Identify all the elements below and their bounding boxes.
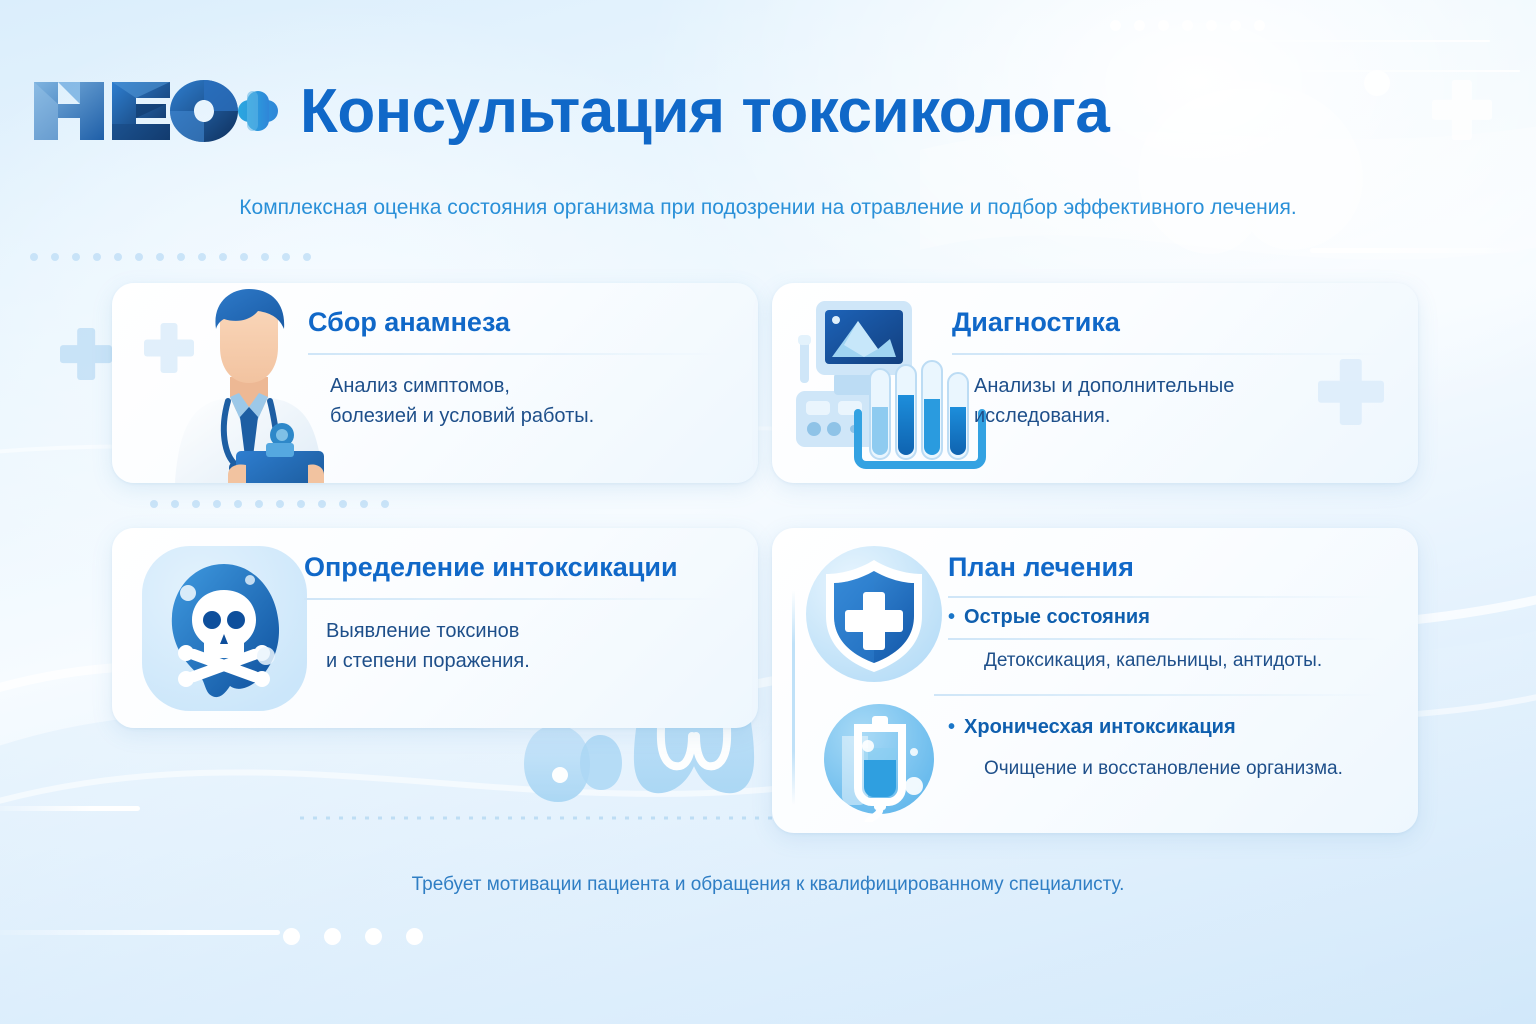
plan-item-detail-chronic: Очищение и восстановление организма. bbox=[984, 758, 1343, 780]
medical-cross-icon bbox=[1432, 80, 1492, 140]
decor-circle bbox=[1364, 70, 1390, 96]
infographic-canvas: Консультация токсиколога Комплексная оце… bbox=[0, 0, 1536, 1024]
bullet-icon: • bbox=[948, 606, 955, 628]
decor-dot-row-bottom bbox=[283, 928, 423, 945]
card-title-anamnesis: Сбор анамнеза bbox=[308, 307, 510, 338]
card-treatment-plan[interactable]: План лечения •Острые состояния Детоксика… bbox=[772, 528, 1418, 833]
plan-item-heading-chronic: •Хроничесхая интоксикация bbox=[948, 716, 1236, 739]
card-intoxication[interactable]: Определение интоксикации Выявление токси… bbox=[112, 528, 758, 728]
medical-cross-icon bbox=[60, 328, 112, 380]
card-body-line: болезией и условий работы. bbox=[330, 401, 594, 431]
card-divider bbox=[948, 596, 1382, 598]
iv-drip-icon bbox=[824, 704, 934, 822]
card-body-intoxication: Выявление токсинов и степени поражения. bbox=[326, 616, 530, 677]
plan-item-detail-acute: Детоксикация, капельницы, антидоты. bbox=[984, 650, 1322, 672]
decor-dot-row-top bbox=[1110, 20, 1265, 31]
page-title: Консультация токсиколога bbox=[300, 76, 1109, 147]
decor-line-4 bbox=[1230, 70, 1520, 72]
kidney-icon bbox=[524, 725, 622, 802]
card-divider bbox=[304, 598, 722, 600]
decor-line-2 bbox=[0, 930, 280, 935]
card-body-line: Выявление токсинов bbox=[326, 616, 530, 646]
plan-item-heading-text: Острые состояния bbox=[964, 606, 1150, 628]
card-body-line: Анализы и дополнительные bbox=[974, 371, 1234, 401]
plan-section-divider bbox=[934, 694, 1386, 696]
decor-line-1 bbox=[0, 806, 140, 811]
card-body-line: исследования. bbox=[974, 401, 1234, 431]
plan-item-divider bbox=[948, 638, 1382, 640]
card-body-anamnesis: Анализ симптомов, болезией и условий раб… bbox=[330, 371, 594, 432]
card-title-diagnostics: Диагностика bbox=[952, 307, 1120, 338]
card-divider bbox=[308, 353, 722, 355]
plan-item-heading-acute: •Острые состояния bbox=[948, 606, 1150, 629]
liver-icon bbox=[1142, 85, 1359, 250]
shield-cross-icon bbox=[806, 546, 942, 682]
card-title-intoxication: Определение интоксикации bbox=[304, 552, 678, 583]
card-body-diagnostics: Анализы и дополнительные исследования. bbox=[974, 371, 1234, 432]
background-waves bbox=[0, 0, 1536, 1024]
medical-cross-icon bbox=[1318, 359, 1384, 425]
plan-vertical-accent bbox=[792, 590, 795, 805]
card-body-line: и степени поражения. bbox=[326, 646, 530, 676]
bullet-icon: • bbox=[948, 716, 955, 738]
background-decoration bbox=[0, 0, 1536, 1024]
card-divider bbox=[952, 353, 1382, 355]
card-body-line: Анализ симптомов, bbox=[330, 371, 594, 401]
decor-line-5 bbox=[1310, 248, 1536, 253]
decor-dot-row-left bbox=[30, 253, 311, 261]
brand-logo[interactable] bbox=[28, 74, 278, 146]
footer-note: Требует мотивации пациента и обращения к… bbox=[0, 874, 1536, 896]
decor-dot-row-mid bbox=[150, 500, 389, 508]
page-subtitle: Комплексная оценка состояния организма п… bbox=[0, 196, 1536, 220]
card-anamnesis[interactable]: Сбор анамнеза Анализ симптомов, болезией… bbox=[112, 283, 758, 483]
card-diagnostics[interactable]: Диагностика Анализы и дополнительные исс… bbox=[772, 283, 1418, 483]
card-title-treatment-plan: План лечения bbox=[948, 552, 1134, 583]
toxic-skull-icon bbox=[142, 546, 307, 711]
plan-item-heading-text: Хроничесхая интоксикация bbox=[964, 716, 1236, 738]
decor-line-3 bbox=[1160, 40, 1490, 42]
